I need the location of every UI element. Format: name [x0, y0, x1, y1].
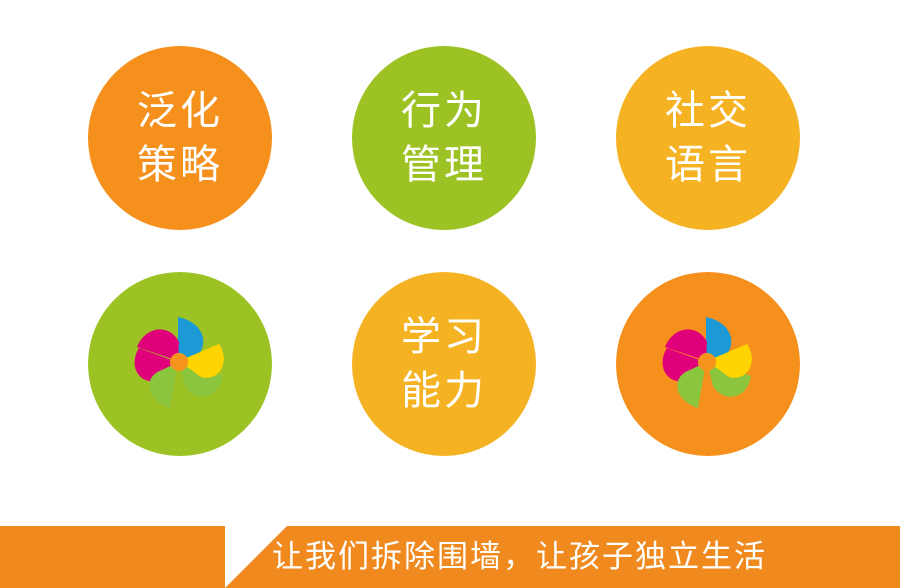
circle-label-line1: 社交	[665, 84, 751, 138]
circle-pinwheel-green[interactable]	[88, 272, 272, 456]
circle-label-line2: 能力	[401, 364, 487, 418]
pinwheel-icon	[643, 304, 773, 424]
circle-label-line2: 策略	[137, 138, 223, 192]
circle-label-line1: 泛化	[137, 84, 223, 138]
circle-label-line1: 学习	[401, 310, 487, 364]
circle-generalization-strategy[interactable]: 泛化 策略	[88, 46, 272, 230]
circle-learning-ability[interactable]: 学习 能力	[352, 272, 536, 456]
circle-pinwheel-orange[interactable]	[616, 272, 800, 456]
circle-behavior-management[interactable]: 行为 管理	[352, 46, 536, 230]
pinwheel-icon	[115, 304, 245, 424]
circle-social-language[interactable]: 社交 语言	[616, 46, 800, 230]
bottom-banner: 让我们拆除围墙，让孩子独立生活	[0, 526, 900, 588]
banner-text: 让我们拆除围墙，让孩子独立生活	[272, 526, 767, 588]
circle-label-line1: 行为	[401, 84, 487, 138]
circle-label-line2: 语言	[665, 138, 751, 192]
circle-label-line2: 管理	[401, 138, 487, 192]
slide-canvas: 泛化 策略 行为 管理 社交 语言 学习 能力	[0, 0, 900, 588]
